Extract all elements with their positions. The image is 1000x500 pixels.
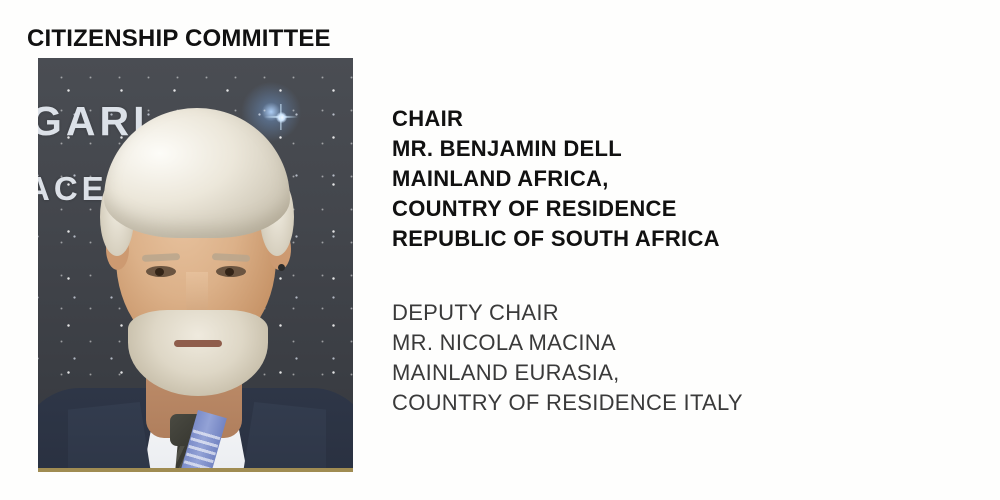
chair-name: MR. BENJAMIN DELL [392, 134, 952, 164]
page-title: CITIZENSHIP COMMITTEE [27, 25, 331, 53]
chair-residence-value: REPUBLIC OF SOUTH AFRICA [392, 224, 952, 254]
member-info-column: CHAIR MR. BENJAMIN DELL MAINLAND AFRICA,… [392, 104, 952, 418]
star-core-icon [276, 112, 287, 123]
bright-star-icon [266, 102, 296, 132]
chair-residence-label: COUNTRY OF RESIDENCE [392, 194, 952, 224]
chair-role-label: CHAIR [392, 104, 952, 134]
photo-accent-strip [38, 468, 353, 472]
mouth [174, 340, 222, 347]
pupil-right [225, 268, 234, 276]
eye-left [146, 266, 176, 277]
eye-right [216, 266, 246, 277]
deputy-chair-residence: COUNTRY OF RESIDENCE ITALY [392, 388, 952, 418]
backdrop-text-line-2: ACE [38, 170, 108, 208]
chair-region: MAINLAND AFRICA, [392, 164, 952, 194]
pupil-left [155, 268, 164, 276]
slide-root: CITIZENSHIP COMMITTEE GARI ACE [0, 0, 1000, 500]
deputy-chair-name: MR. NICOLA MACINA [392, 328, 952, 358]
deputy-chair-region: MAINLAND EURASIA, [392, 358, 952, 388]
deputy-chair-info-block: DEPUTY CHAIR MR. NICOLA MACINA MAINLAND … [392, 298, 952, 418]
deputy-chair-role-label: DEPUTY CHAIR [392, 298, 952, 328]
earring-icon [278, 264, 285, 271]
portrait-image: GARI ACE [38, 58, 353, 472]
member-portrait-photo: GARI ACE [38, 58, 353, 472]
chair-info-block: CHAIR MR. BENJAMIN DELL MAINLAND AFRICA,… [392, 104, 952, 254]
